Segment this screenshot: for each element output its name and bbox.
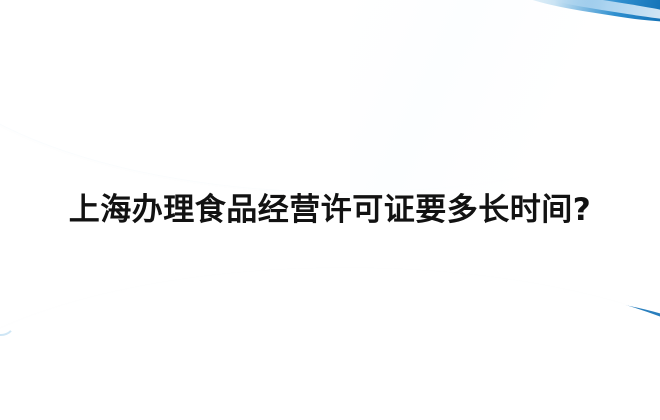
top-right-fade [350, 0, 660, 200]
bottom-swoosh-cutout [0, 268, 660, 420]
banner-container: 上海办理食品经营许可证要多长时间? [0, 0, 660, 420]
